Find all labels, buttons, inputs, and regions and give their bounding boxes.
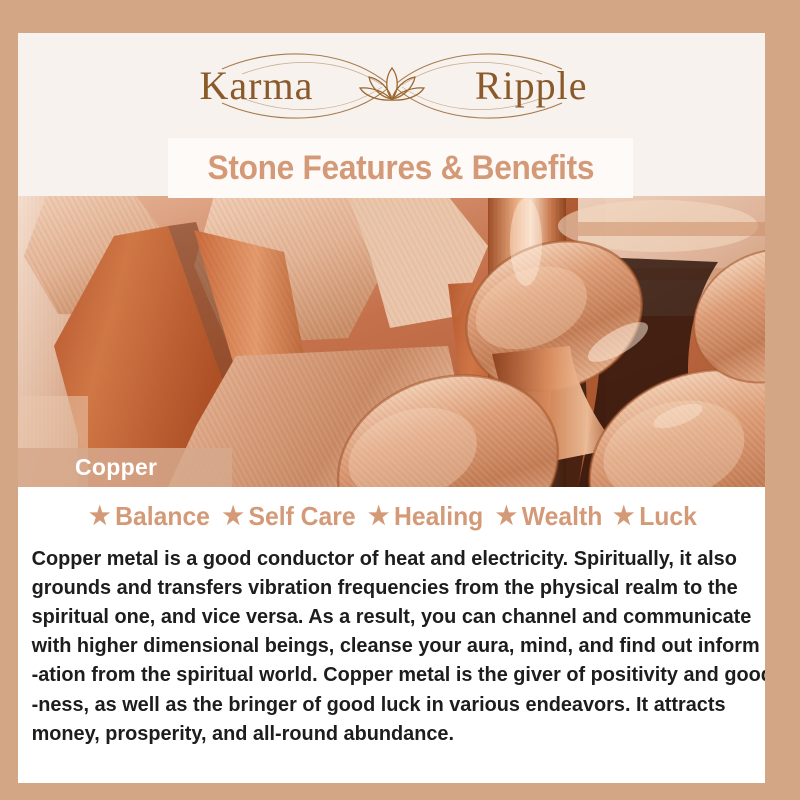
feature-item-self-care: ★ Self Care bbox=[219, 501, 358, 532]
star-icon: ★ bbox=[613, 504, 634, 529]
product-infographic: Karma Ripple Stone Features & Benefits bbox=[0, 0, 800, 800]
brand-name-right: Ripple bbox=[475, 63, 588, 108]
star-icon: ★ bbox=[495, 504, 516, 529]
feature-item-healing: ★ Healing bbox=[365, 501, 486, 532]
brand-logo: Karma Ripple bbox=[182, 41, 602, 131]
brand-header: Karma Ripple bbox=[18, 33, 765, 138]
star-icon: ★ bbox=[89, 504, 110, 529]
feature-label: Self Care bbox=[249, 501, 356, 532]
description-text: Copper metal is a good conductor of heat… bbox=[18, 532, 743, 748]
description-line: spiritual one, and vice versa. As a resu… bbox=[32, 602, 727, 631]
description-line: -ness, as well as the bringer of good lu… bbox=[32, 690, 727, 719]
description-line: Copper metal is a good conductor of heat… bbox=[32, 544, 727, 573]
feature-list: ★ Balance ★ Self Care ★ Healing ★ Wealth… bbox=[18, 487, 765, 532]
section-title-band: Stone Features & Benefits bbox=[168, 138, 633, 198]
page-title: Stone Features & Benefits bbox=[207, 149, 594, 188]
feature-label: Wealth bbox=[521, 501, 602, 532]
feature-item-balance: ★ Balance bbox=[85, 501, 211, 532]
product-photo: Copper bbox=[18, 196, 765, 487]
infographic-card: Karma Ripple Stone Features & Benefits bbox=[18, 33, 765, 783]
star-icon: ★ bbox=[368, 504, 389, 529]
stone-name: Copper bbox=[18, 454, 157, 481]
content-panel: ★ Balance ★ Self Care ★ Healing ★ Wealth… bbox=[18, 487, 765, 783]
feature-label: Luck bbox=[639, 501, 697, 532]
photo-caption-bar: Copper bbox=[18, 448, 232, 487]
description-line: grounds and transfers vibration frequenc… bbox=[32, 573, 727, 602]
feature-item-wealth: ★ Wealth bbox=[492, 501, 604, 532]
feature-item-luck: ★ Luck bbox=[609, 501, 698, 532]
copper-bars-image bbox=[18, 196, 765, 487]
description-line: with higher dimensional beings, cleanse … bbox=[32, 631, 727, 660]
lotus-flower-icon bbox=[360, 68, 424, 100]
description-line: -ation from the spiritual world. Copper … bbox=[32, 660, 727, 689]
brand-name-left: Karma bbox=[200, 63, 314, 108]
feature-label: Balance bbox=[115, 501, 210, 532]
description-line: money, prosperity, and all-round abundan… bbox=[32, 719, 727, 748]
feature-label: Healing bbox=[394, 501, 483, 532]
star-icon: ★ bbox=[223, 504, 244, 529]
